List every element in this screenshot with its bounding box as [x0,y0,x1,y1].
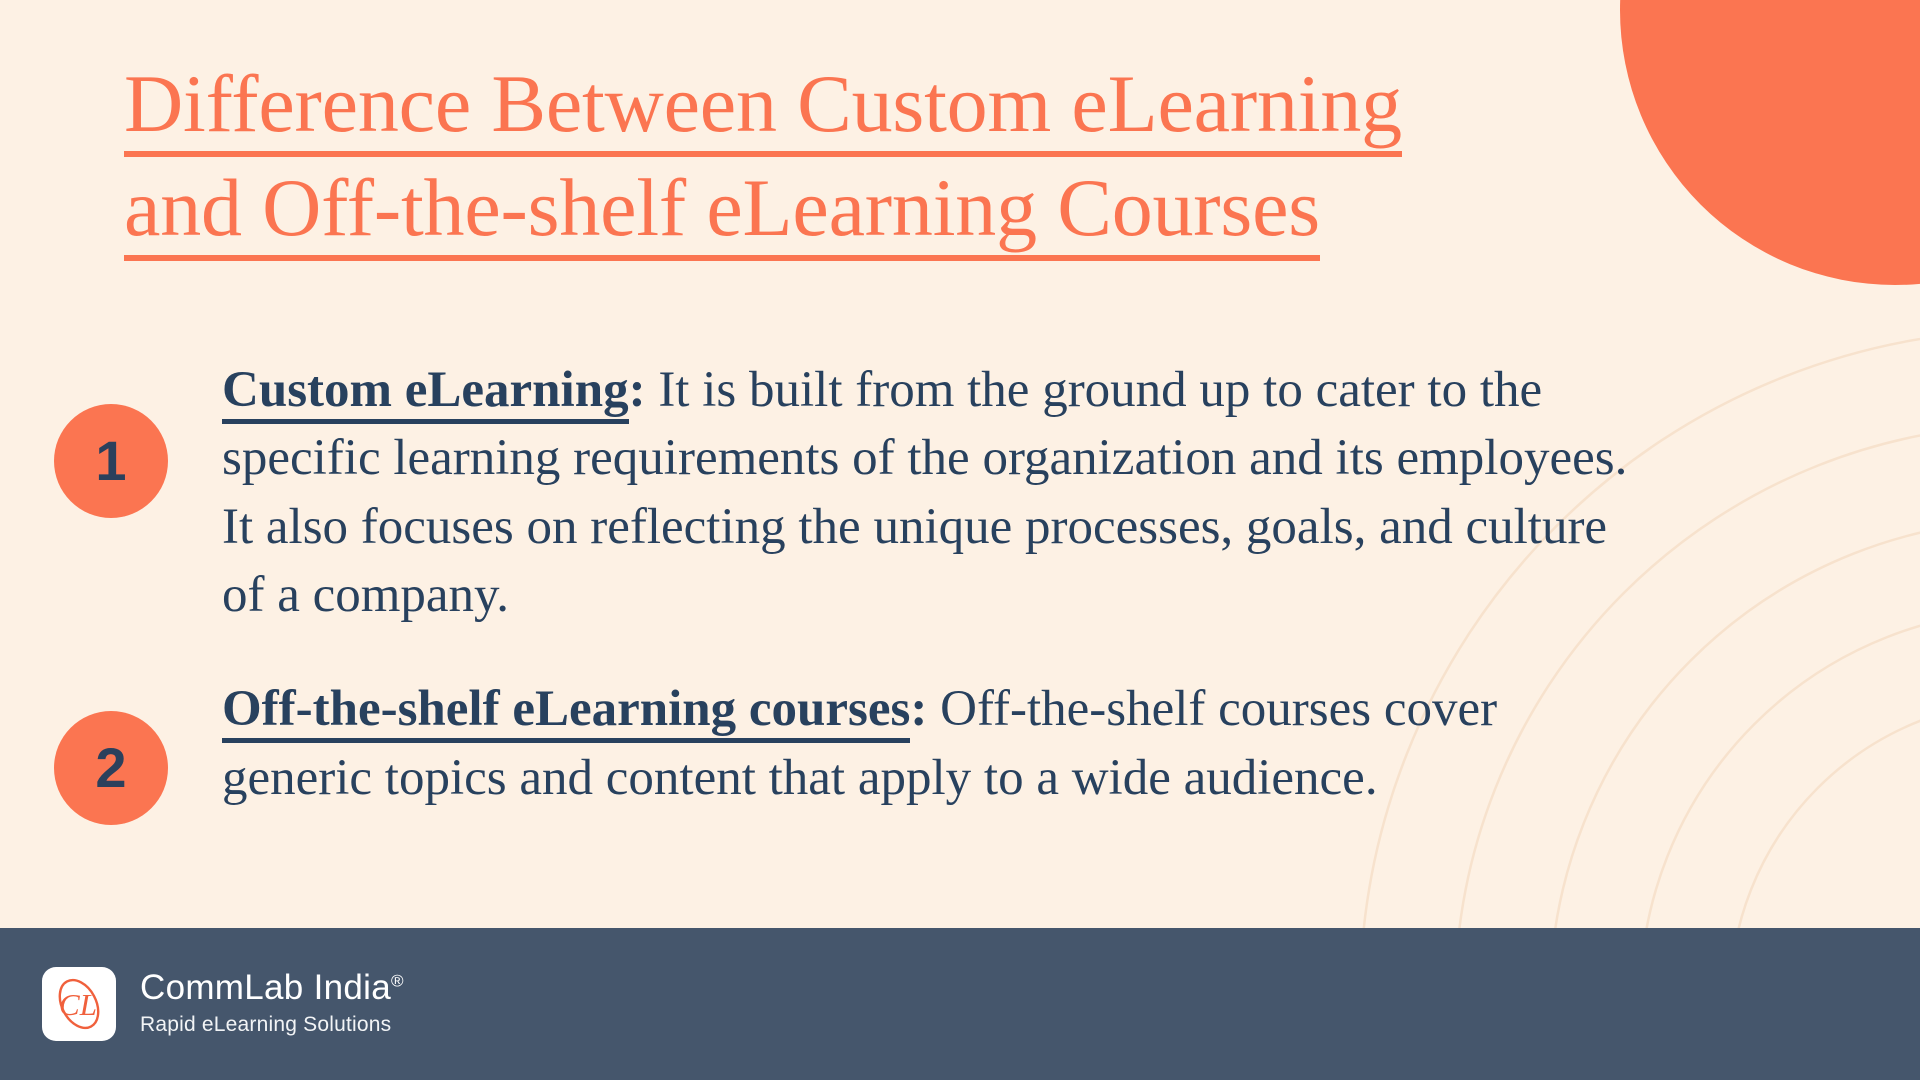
list-item-text: Off-the-shelf eLearning courses: Off-the… [222,675,1640,812]
cl-monogram-icon: CL [48,973,110,1035]
list-item-lead: Custom eLearning: [222,362,646,424]
list-item-lead: Off-the-shelf eLearning courses: [222,681,927,743]
list-item-text: Custom eLearning: It is built from the g… [222,356,1640,629]
commlab-logo-icon: CL [42,967,116,1041]
list-item: 2 Off-the-shelf eLearning courses: Off-t… [0,675,1700,825]
brand-text-block: CommLab India® Rapid eLearning Solutions [140,970,404,1038]
list-item: 1 Custom eLearning: It is built from the… [0,356,1700,629]
list-item-lead-underlined: Custom eLearning [222,362,629,424]
title-line-1-text: Difference Between Custom eLearning [124,58,1402,157]
number-badge-label: 1 [95,433,126,489]
list-item-body-cell: Custom eLearning: It is built from the g… [222,356,1700,629]
brand-lockup: CL CommLab India® Rapid eLearning Soluti… [42,967,404,1041]
list-item-body-cell: Off-the-shelf eLearning courses: Off-the… [222,675,1700,812]
slide-root: Difference Between Custom eLearning and … [0,0,1920,1080]
footer-bar: CL CommLab India® Rapid eLearning Soluti… [0,928,1920,1080]
brand-name-label: CommLab India [140,968,391,1007]
svg-text:CL: CL [59,987,97,1022]
list-item-lead-underlined: Off-the-shelf eLearning courses [222,681,910,743]
page-title: Difference Between Custom eLearning and … [124,52,1544,260]
number-badge: 1 [54,404,168,518]
number-badge-label: 2 [95,740,126,796]
list-item-badge-cell: 2 [0,675,222,825]
brand-tagline: Rapid eLearning Solutions [140,1012,404,1038]
title-line-1: Difference Between Custom eLearning [124,52,1544,156]
title-line-2-text: and Off-the-shelf eLearning Courses [124,162,1320,261]
list-item-lead-colon: : [629,362,646,418]
points-list: 1 Custom eLearning: It is built from the… [0,356,1700,825]
title-line-2: and Off-the-shelf eLearning Courses [124,156,1544,260]
decor-orange-circle [1620,0,1920,285]
list-item-badge-cell: 1 [0,356,222,518]
list-item-lead-colon: : [910,681,927,737]
registered-mark-icon: ® [391,972,404,991]
brand-name: CommLab India® [140,970,404,1006]
number-badge: 2 [54,711,168,825]
